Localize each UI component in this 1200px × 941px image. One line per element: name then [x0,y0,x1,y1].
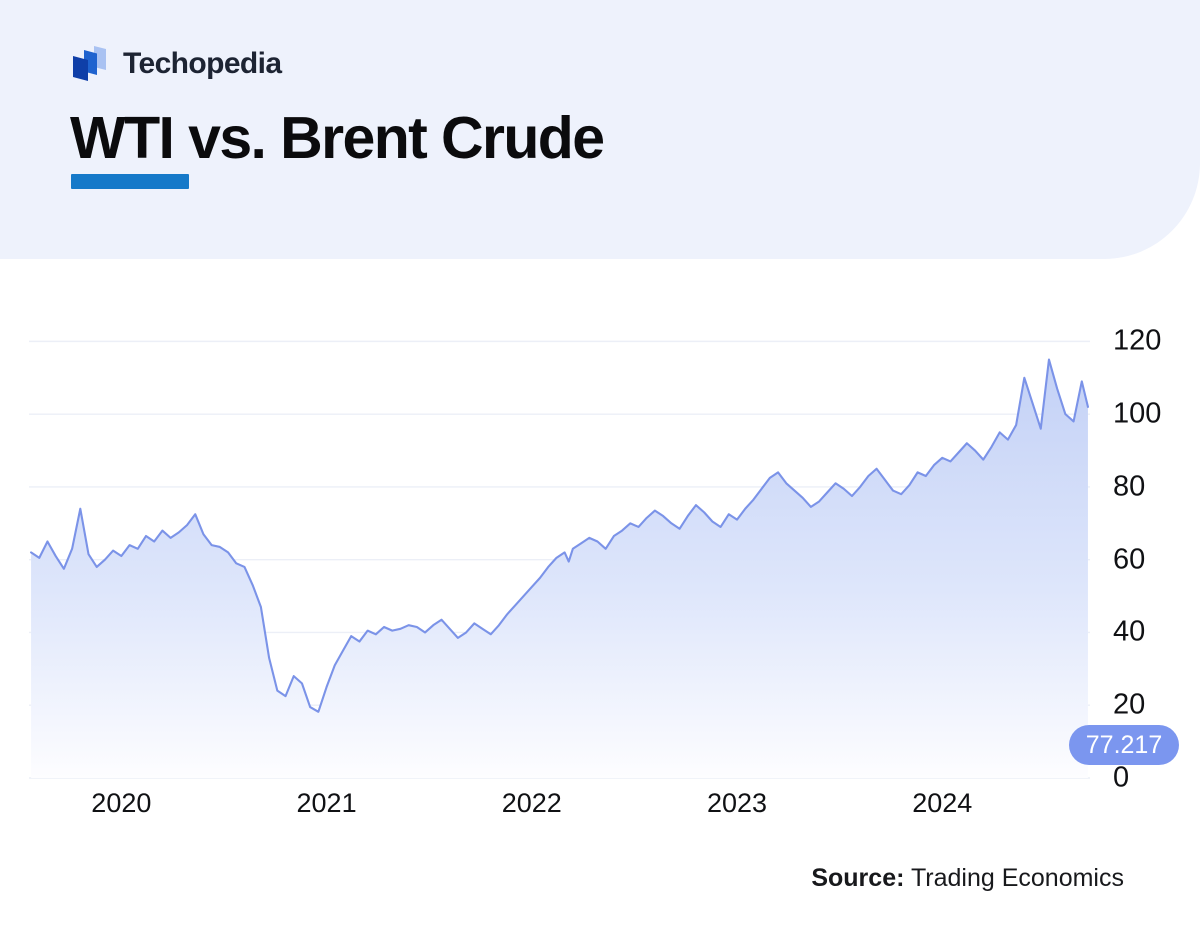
y-tick-40: 40 [1113,616,1145,649]
source-attribution: Source: Trading Economics [811,864,1124,893]
header-panel: Techopedia WTI vs. Brent Crude [0,0,1200,259]
x-tick-2020: 2020 [91,788,151,819]
last-price-badge[interactable]: 77.217 [1069,725,1179,765]
x-tick-2023: 2023 [707,788,767,819]
y-tick-20: 20 [1113,689,1145,722]
brand-name: Techopedia [123,47,281,81]
title-accent-rule [71,174,189,189]
source-label: Source: [811,864,904,892]
x-tick-2024: 2024 [912,788,972,819]
page-title: WTI vs. Brent Crude [70,104,603,172]
chart-canvas [0,259,1200,859]
y-tick-0: 0 [1113,762,1129,795]
x-tick-2022: 2022 [502,788,562,819]
infographic-page: Techopedia WTI vs. Brent Crude 020406080… [0,0,1200,941]
crude-oil-price-chart: 020406080100120 20202021202220232024 77.… [0,259,1200,859]
source-value: Trading Economics [911,864,1124,892]
y-tick-120: 120 [1113,325,1161,358]
chart-area-fill [31,360,1088,778]
y-tick-80: 80 [1113,470,1145,503]
x-tick-2021: 2021 [297,788,357,819]
brand: Techopedia [70,44,281,84]
y-tick-100: 100 [1113,398,1161,431]
y-tick-60: 60 [1113,543,1145,576]
techopedia-logo-icon [70,44,110,84]
